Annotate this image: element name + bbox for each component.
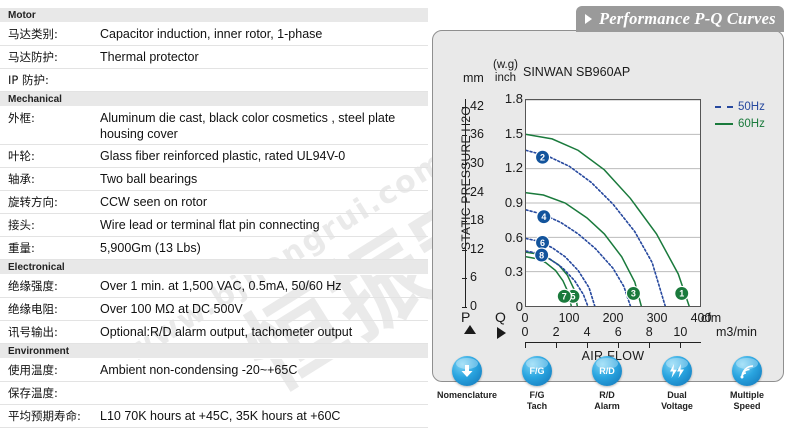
spec-row-label: 重量:: [0, 240, 100, 256]
spec-row: 绝缘强度:Over 1 min. at 1,500 VAC, 0.5mA, 50…: [0, 275, 428, 298]
spec-row-value: Wire lead or terminal flat pin connectin…: [100, 217, 428, 233]
legend-item: 60Hz: [715, 118, 765, 130]
feature-icon-caption: DualVoltage: [661, 390, 693, 412]
spec-row-label: 马达类别:: [0, 26, 100, 42]
svg-text:3: 3: [631, 289, 636, 299]
spec-row-label: 轴承:: [0, 171, 100, 187]
spec-row-label: 绝缘强度:: [0, 278, 100, 294]
x-axis-ruler-tick: [556, 343, 557, 348]
x-axis-tick-label-m3: 6: [615, 325, 622, 339]
spec-section-header: Environment: [0, 344, 428, 359]
y-axis-tick: [462, 164, 467, 165]
performance-chart-panel: SINWAN SB960AP mm (w.g)inch STATIC PRESS…: [432, 30, 784, 382]
legend-label: 50Hz: [738, 101, 765, 113]
spec-row: 讯号输出:Optional:R/D alarm output, tachomet…: [0, 321, 428, 344]
y-axis-tick-label-mm: 36: [470, 127, 494, 141]
feature-icon-row: NomenclatureF/GF/GTachR/DR/DAlarmDualVol…: [432, 352, 784, 422]
curve-marker-8: 8: [535, 248, 549, 262]
y-axis-tick: [462, 250, 467, 251]
curve-marker-2: 2: [536, 150, 550, 164]
y-axis-tick: [462, 135, 467, 136]
x-axis-tick-label-m3: 2: [553, 325, 560, 339]
y-axis-secondary-unit: (w.g)inch: [493, 59, 518, 84]
feature-icon-item[interactable]: R/DR/DAlarm: [572, 352, 642, 422]
y-axis-primary-unit: mm: [463, 71, 484, 85]
y-axis-tick: [462, 193, 467, 194]
spec-row-label: 保存温度:: [0, 385, 100, 401]
y-axis-tick-label-inch: 0.3: [505, 264, 523, 279]
spec-row-value: L10 70K hours at +45C, 35K hours at +60C: [100, 408, 428, 424]
x-axis-m3-unit: m3/min: [716, 325, 757, 339]
spec-row-value: Optional:R/D alarm output, tachometer ou…: [100, 324, 428, 340]
triangle-right-icon: [585, 14, 592, 24]
x-axis-ruler-tick: [649, 343, 650, 348]
feature-icon-item[interactable]: DualVoltage: [642, 352, 712, 422]
x-axis-m3-scale: 0246810: [521, 325, 721, 339]
spec-row: 保存温度:: [0, 382, 428, 405]
spec-row-label: IP 防护:: [0, 72, 100, 88]
spec-row-label: 叶轮:: [0, 148, 100, 164]
lightning-icon[interactable]: [662, 356, 692, 386]
spec-row-value: CCW seen on rotor: [100, 194, 428, 210]
y-axis-tick-label-mm: 42: [470, 99, 494, 113]
chart-title: SINWAN SB960AP: [523, 65, 630, 79]
spec-row-label: 接头:: [0, 217, 100, 233]
spec-section-header: Mechanical: [0, 92, 428, 107]
feature-icon-item[interactable]: MultipleSpeed: [712, 352, 782, 422]
y-axis-tick: [462, 221, 467, 222]
spec-row-label: 旋转方向:: [0, 194, 100, 210]
spec-row: 重量:5,900Gm (13 Lbs): [0, 237, 428, 260]
spec-row: 接头:Wire lead or terminal flat pin connec…: [0, 214, 428, 237]
spec-row-value: Capacitor induction, inner rotor, 1-phas…: [100, 26, 428, 42]
svg-text:1: 1: [679, 289, 684, 299]
spec-row-value: Over 1 min. at 1,500 VAC, 0.5mA, 50/60 H…: [100, 278, 428, 294]
spec-row-value: Glass fiber reinforced plastic, rated UL…: [100, 148, 428, 164]
x-axis-tick-label-cfm: 300: [647, 311, 668, 325]
spec-section-header: Motor: [0, 8, 428, 23]
y-axis-tick-label-mm: 24: [470, 185, 494, 199]
curve-marker-1: 1: [675, 286, 689, 300]
spec-row: IP 防护:: [0, 69, 428, 92]
y-axis-tick-label-inch: 1.5: [505, 126, 523, 141]
feature-icon-caption: F/GTach: [527, 390, 547, 412]
spec-row-value: 5,900Gm (13 Lbs): [100, 240, 428, 256]
x-axis-cfm-scale: 0100200300400: [521, 311, 721, 325]
y-axis-tick: [462, 278, 467, 279]
x-axis-ruler-tick: [587, 343, 588, 348]
spec-row-value: Aluminum die cast, black color cosmetics…: [100, 110, 428, 142]
pq-curve-2: [526, 150, 665, 306]
svg-text:7: 7: [562, 292, 567, 302]
svg-text:8: 8: [539, 250, 544, 260]
feature-icon-caption: R/DAlarm: [594, 390, 620, 412]
x-axis-ruler-tick: [525, 342, 526, 348]
spec-row-value: Thermal protector: [100, 49, 428, 65]
legend-swatch: [715, 123, 733, 125]
spec-row: 外框:Aluminum die cast, black color cosmet…: [0, 107, 428, 145]
tab-title-label: Performance P-Q Curves: [599, 9, 776, 29]
x-axis-tick-label-m3: 4: [584, 325, 591, 339]
spec-row: 使用温度:Ambient non-condensing -20~+65C: [0, 359, 428, 382]
pressure-axis-marker: P: [461, 309, 470, 325]
y-axis-tick-label-inch: 1.2: [505, 160, 523, 175]
legend-item: 50Hz: [715, 101, 765, 113]
specification-table: Motor马达类别:Capacitor induction, inner rot…: [0, 8, 428, 428]
spec-row-label: 讯号输出:: [0, 324, 100, 340]
spec-row-value: Ambient non-condensing -20~+65C: [100, 362, 428, 378]
spec-row-label: 平均预期寿命:: [0, 408, 100, 424]
feature-icon-item[interactable]: F/GF/GTach: [502, 352, 572, 422]
spec-row: 绝缘电阻:Over 100 MΩ at DC 500V: [0, 298, 428, 321]
y-axis-mm-scale: 06121824303642: [465, 99, 495, 307]
spec-row-label: 使用温度:: [0, 362, 100, 378]
curve-marker-3: 3: [626, 286, 640, 300]
x-axis-ruler-tick: [680, 343, 681, 348]
y-axis-tick-label-inch: 1.8: [505, 91, 523, 106]
curve-marker-7: 7: [557, 289, 571, 303]
spec-row: 旋转方向:CCW seen on rotor: [0, 191, 428, 214]
x-axis-ruler: [525, 342, 701, 348]
feature-icon-caption: MultipleSpeed: [730, 390, 764, 412]
performance-pq-curves-tab[interactable]: Performance P-Q Curves: [576, 6, 784, 32]
x-axis-tick-label-m3: 8: [646, 325, 653, 339]
x-axis-tick-label-m3: 0: [522, 325, 529, 339]
x-axis-tick-label-cfm: 0: [522, 311, 529, 325]
y-axis-tick-label-inch: 0.6: [505, 230, 523, 245]
y-axis-tick-label-inch: 0.9: [505, 195, 523, 210]
y-axis-tick: [462, 307, 467, 308]
chart-plot-area: 12345678: [525, 99, 701, 307]
curve-marker-4: 4: [537, 210, 551, 224]
spec-row-value: Over 100 MΩ at DC 500V: [100, 301, 428, 317]
y-axis-tick-label-mm: 12: [470, 242, 494, 256]
y-axis-inch-scale: 00.30.60.91.21.51.8: [493, 99, 523, 307]
signal-waves-icon[interactable]: [732, 356, 762, 386]
spec-row-label: 绝缘电阻:: [0, 301, 100, 317]
spec-row-value: Two ball bearings: [100, 171, 428, 187]
x-axis-tick-label-m3: 10: [673, 325, 687, 339]
y-axis-tick-label-mm: 30: [470, 156, 494, 170]
svg-text:2: 2: [540, 153, 545, 163]
legend-label: 60Hz: [738, 118, 765, 130]
feature-icon-caption: Nomenclature: [437, 390, 497, 401]
triangle-right-flow-icon: [497, 327, 506, 339]
x-axis-tick-label-cfm: 200: [603, 311, 624, 325]
spec-row: 马达类别:Capacitor induction, inner rotor, 1…: [0, 23, 428, 46]
x-axis-cfm-unit: cfm: [701, 311, 721, 325]
y-axis-tick-label-mm: 6: [470, 270, 494, 284]
pq-curves-svg: 12345678: [526, 100, 700, 306]
spec-row: 叶轮:Glass fiber reinforced plastic, rated…: [0, 145, 428, 168]
y-axis-tick: [462, 107, 467, 108]
spec-row-label: 马达防护:: [0, 49, 100, 65]
spec-row: 马达防护:Thermal protector: [0, 46, 428, 69]
rd-alarm-icon[interactable]: R/D: [592, 356, 622, 386]
feature-icon-item[interactable]: Nomenclature: [432, 352, 502, 422]
svg-text:4: 4: [541, 212, 546, 222]
svg-text:6: 6: [540, 238, 545, 248]
fg-tach-icon[interactable]: F/G: [522, 356, 552, 386]
y-axis-tick-label-mm: 0: [470, 299, 494, 313]
spec-row: 轴承:Two ball bearings: [0, 168, 428, 191]
chart-legend: 50Hz60Hz: [715, 101, 765, 135]
y-axis-tick-label-mm: 18: [470, 213, 494, 227]
x-axis-ruler-tick: [618, 343, 619, 348]
triangle-up-icon: [464, 325, 476, 334]
spec-row-label: 外框:: [0, 110, 100, 126]
down-arrow-icon[interactable]: [452, 356, 482, 386]
icon-glyph-label: F/G: [530, 366, 545, 376]
icon-glyph-label: R/D: [599, 366, 615, 376]
curve-marker-6: 6: [536, 235, 550, 249]
flow-axis-marker: Q: [495, 309, 506, 325]
spec-section-header: Electronical: [0, 260, 428, 275]
legend-swatch: [715, 106, 733, 108]
x-axis-tick-label-cfm: 100: [559, 311, 580, 325]
